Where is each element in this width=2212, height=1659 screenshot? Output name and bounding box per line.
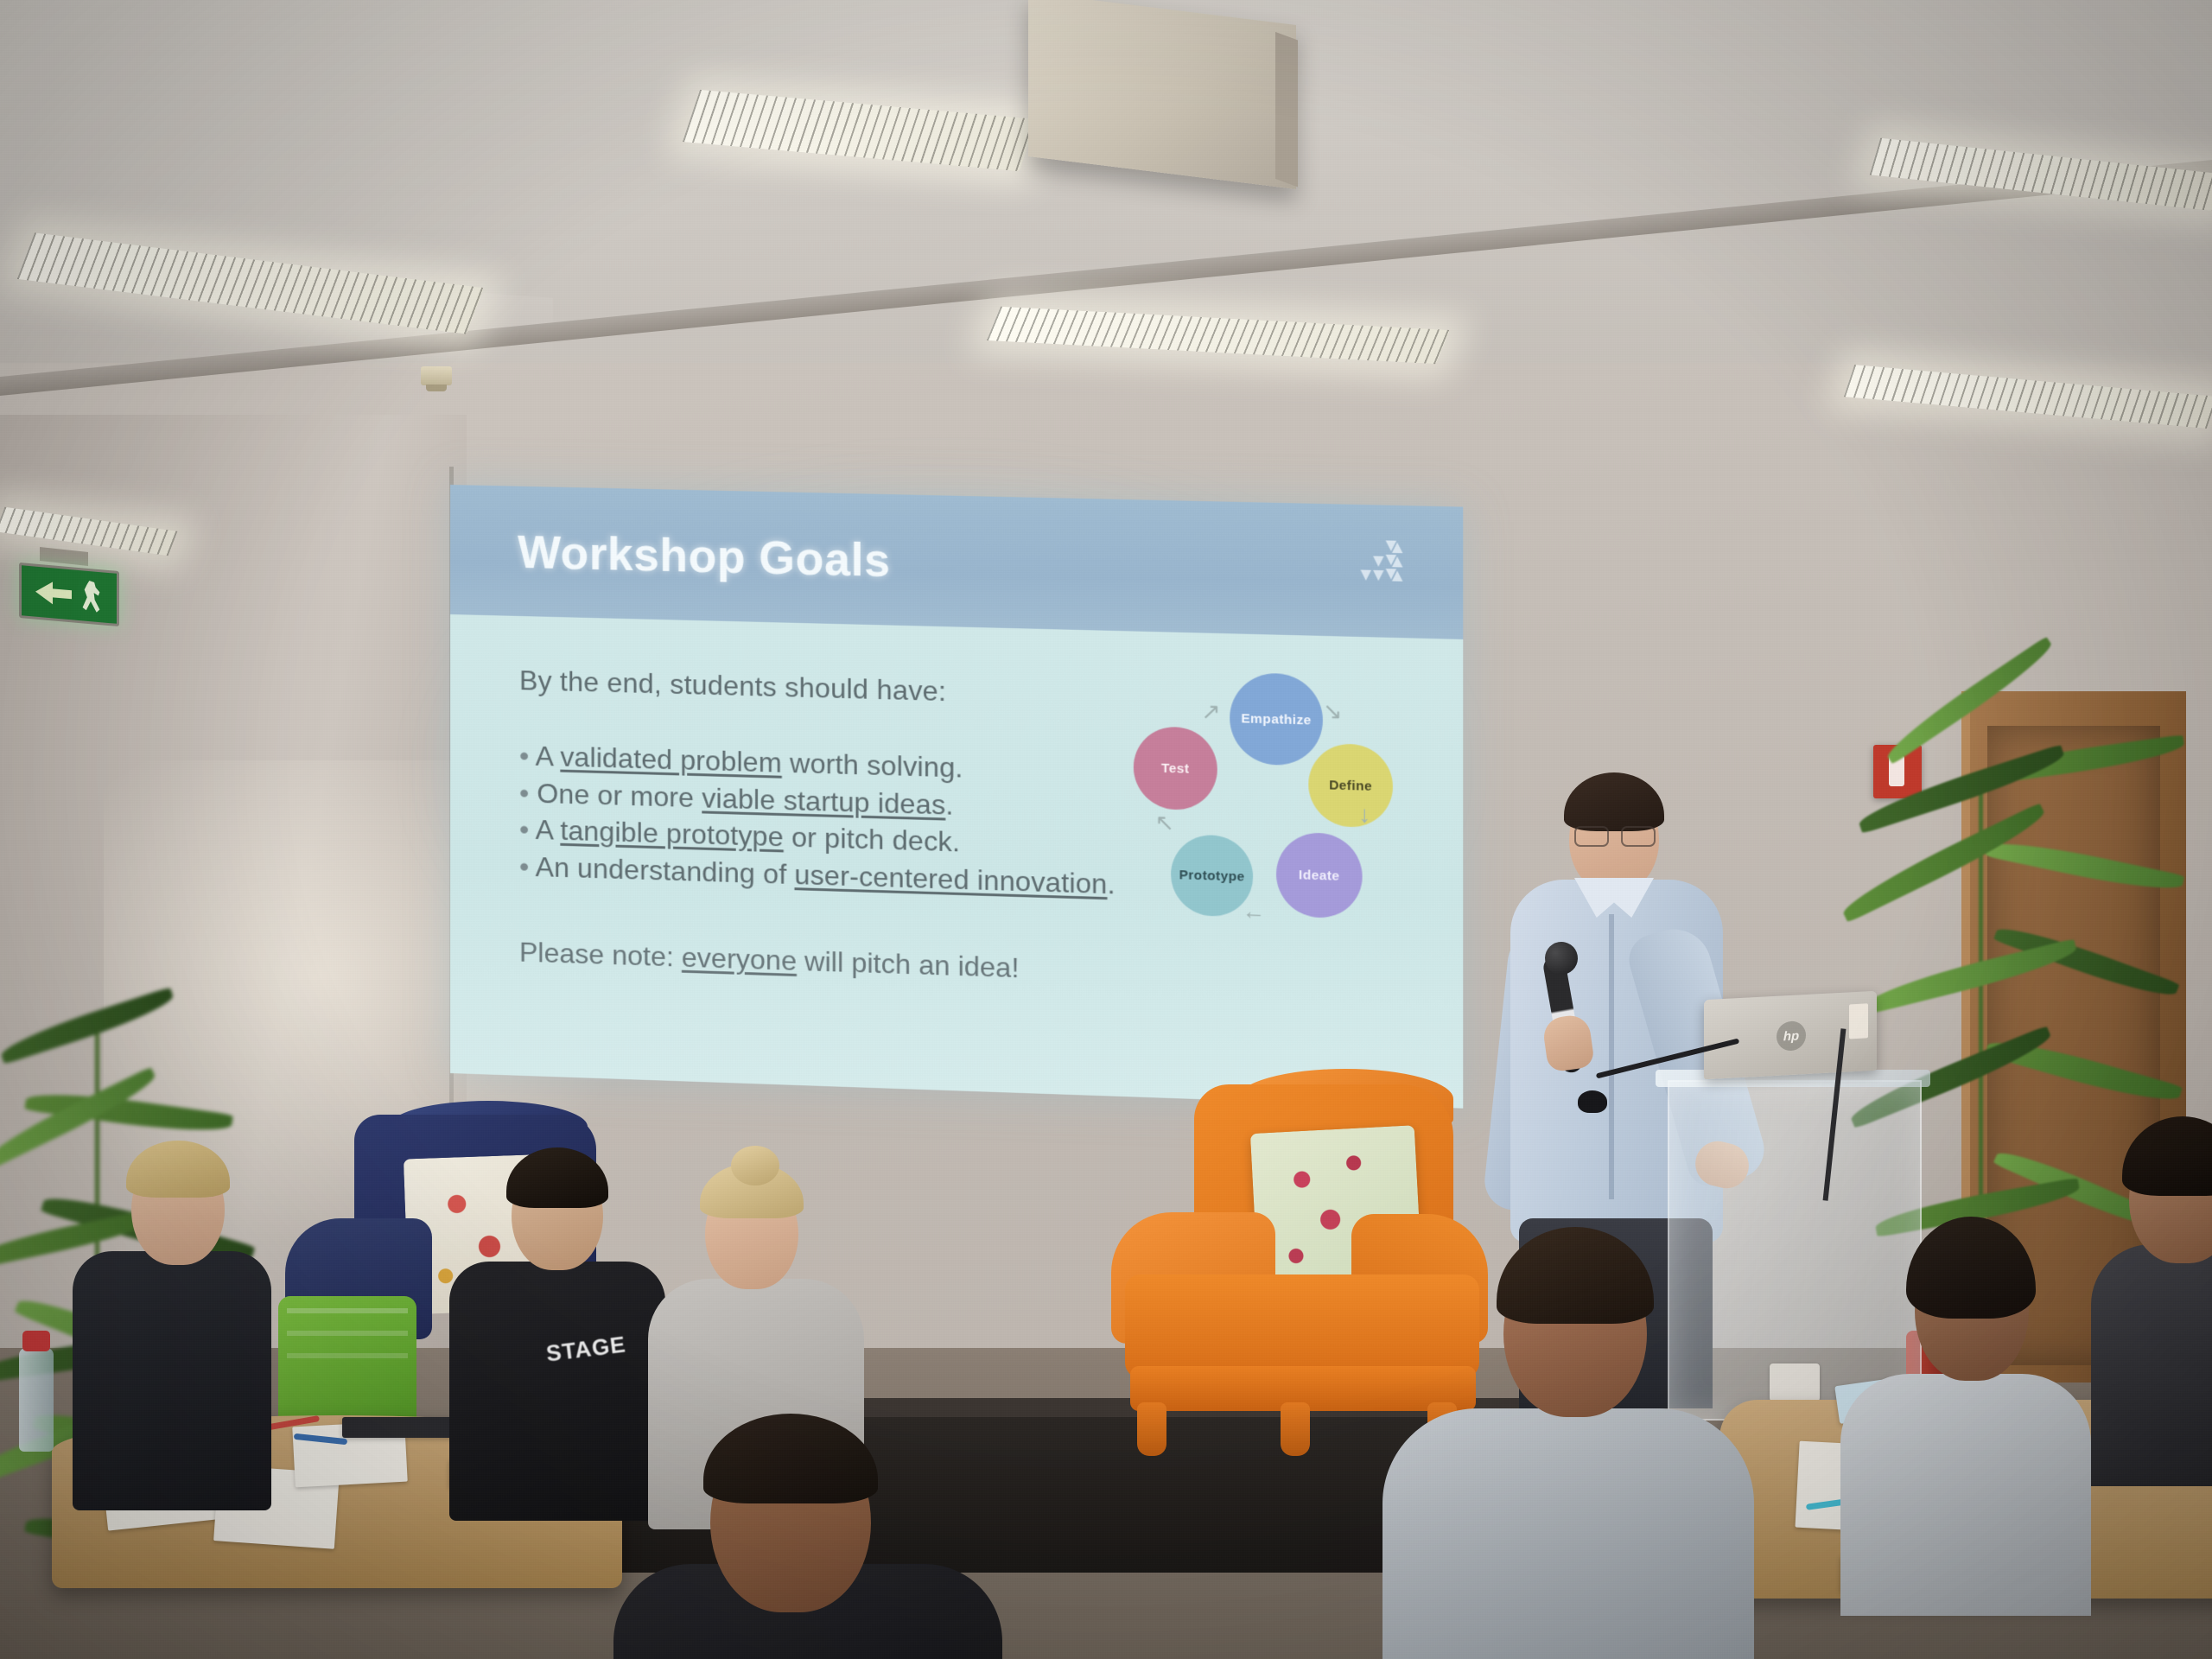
cycle-arrow-icon: ↗: [1201, 700, 1221, 723]
cycle-node-label: Test: [1161, 760, 1189, 776]
cycle-node-define: Define: [1308, 743, 1393, 829]
cycle-node-label: Define: [1329, 778, 1372, 794]
classroom-scene: Workshop Goals By the end, students shou…: [0, 0, 2212, 1659]
cycle-node-label: Empathize: [1241, 711, 1311, 728]
student-grey-sweater: [1382, 1210, 1754, 1659]
slide-header-band: Workshop Goals: [450, 485, 1463, 639]
wall-socket: [1770, 1363, 1820, 1402]
slide-intro-line: By the end, students should have:: [519, 664, 946, 708]
student-front-dark: [613, 1417, 1002, 1659]
student-blond-left: [73, 1141, 271, 1503]
student-right-back: [1840, 1210, 2091, 1607]
cycle-arrow-icon: ←: [1243, 899, 1266, 923]
design-thinking-cycle-diagram: EmpathizeDefineIdeatePrototypeTest↗↘↓←↖: [1134, 664, 1420, 937]
cycle-node-empathize: Empathize: [1230, 672, 1323, 766]
student-far-right: [2091, 1115, 2212, 1478]
boom-microphone-head: [1578, 1090, 1607, 1113]
cycle-node-prototype: Prototype: [1171, 834, 1253, 917]
slide-body: By the end, students should have: A vali…: [450, 614, 1463, 1109]
slide-title: Workshop Goals: [518, 526, 890, 588]
running-person-icon: [80, 580, 103, 613]
cycle-node-test: Test: [1134, 726, 1217, 810]
hp-laptop[interactable]: [1704, 991, 1877, 1079]
triangle-logo-icon: [1346, 536, 1406, 587]
cycle-node-ideate: Ideate: [1276, 832, 1363, 919]
water-bottle: [19, 1348, 54, 1452]
slide-note: Please note: everyone will pitch an idea…: [519, 937, 1019, 985]
emergency-exit-sign: [19, 563, 119, 626]
bottle-cap: [22, 1331, 50, 1351]
ceiling-speaker: [1028, 0, 1296, 189]
presenter-hair: [1564, 772, 1664, 831]
slide-bullet-list: A validated problem worth solving. One o…: [519, 737, 1116, 903]
hair-bun: [731, 1146, 779, 1185]
cycle-node-label: Ideate: [1299, 868, 1339, 884]
hp-logo-icon: [1777, 1020, 1806, 1052]
cycle-arrow-icon: ↖: [1155, 810, 1174, 834]
cycle-arrow-icon: ↘: [1323, 699, 1343, 722]
glasses-icon: [1574, 826, 1656, 843]
arrow-left-icon: [35, 581, 53, 605]
projected-slide: Workshop Goals By the end, students shou…: [450, 485, 1463, 1109]
cycle-node-label: Prototype: [1179, 868, 1245, 885]
presenter-shirt-placket: [1609, 914, 1614, 1199]
laptop-sticker: [1849, 1003, 1868, 1039]
cycle-arrow-icon: ↓: [1358, 803, 1370, 826]
smoke-detector-icon: [421, 366, 452, 385]
